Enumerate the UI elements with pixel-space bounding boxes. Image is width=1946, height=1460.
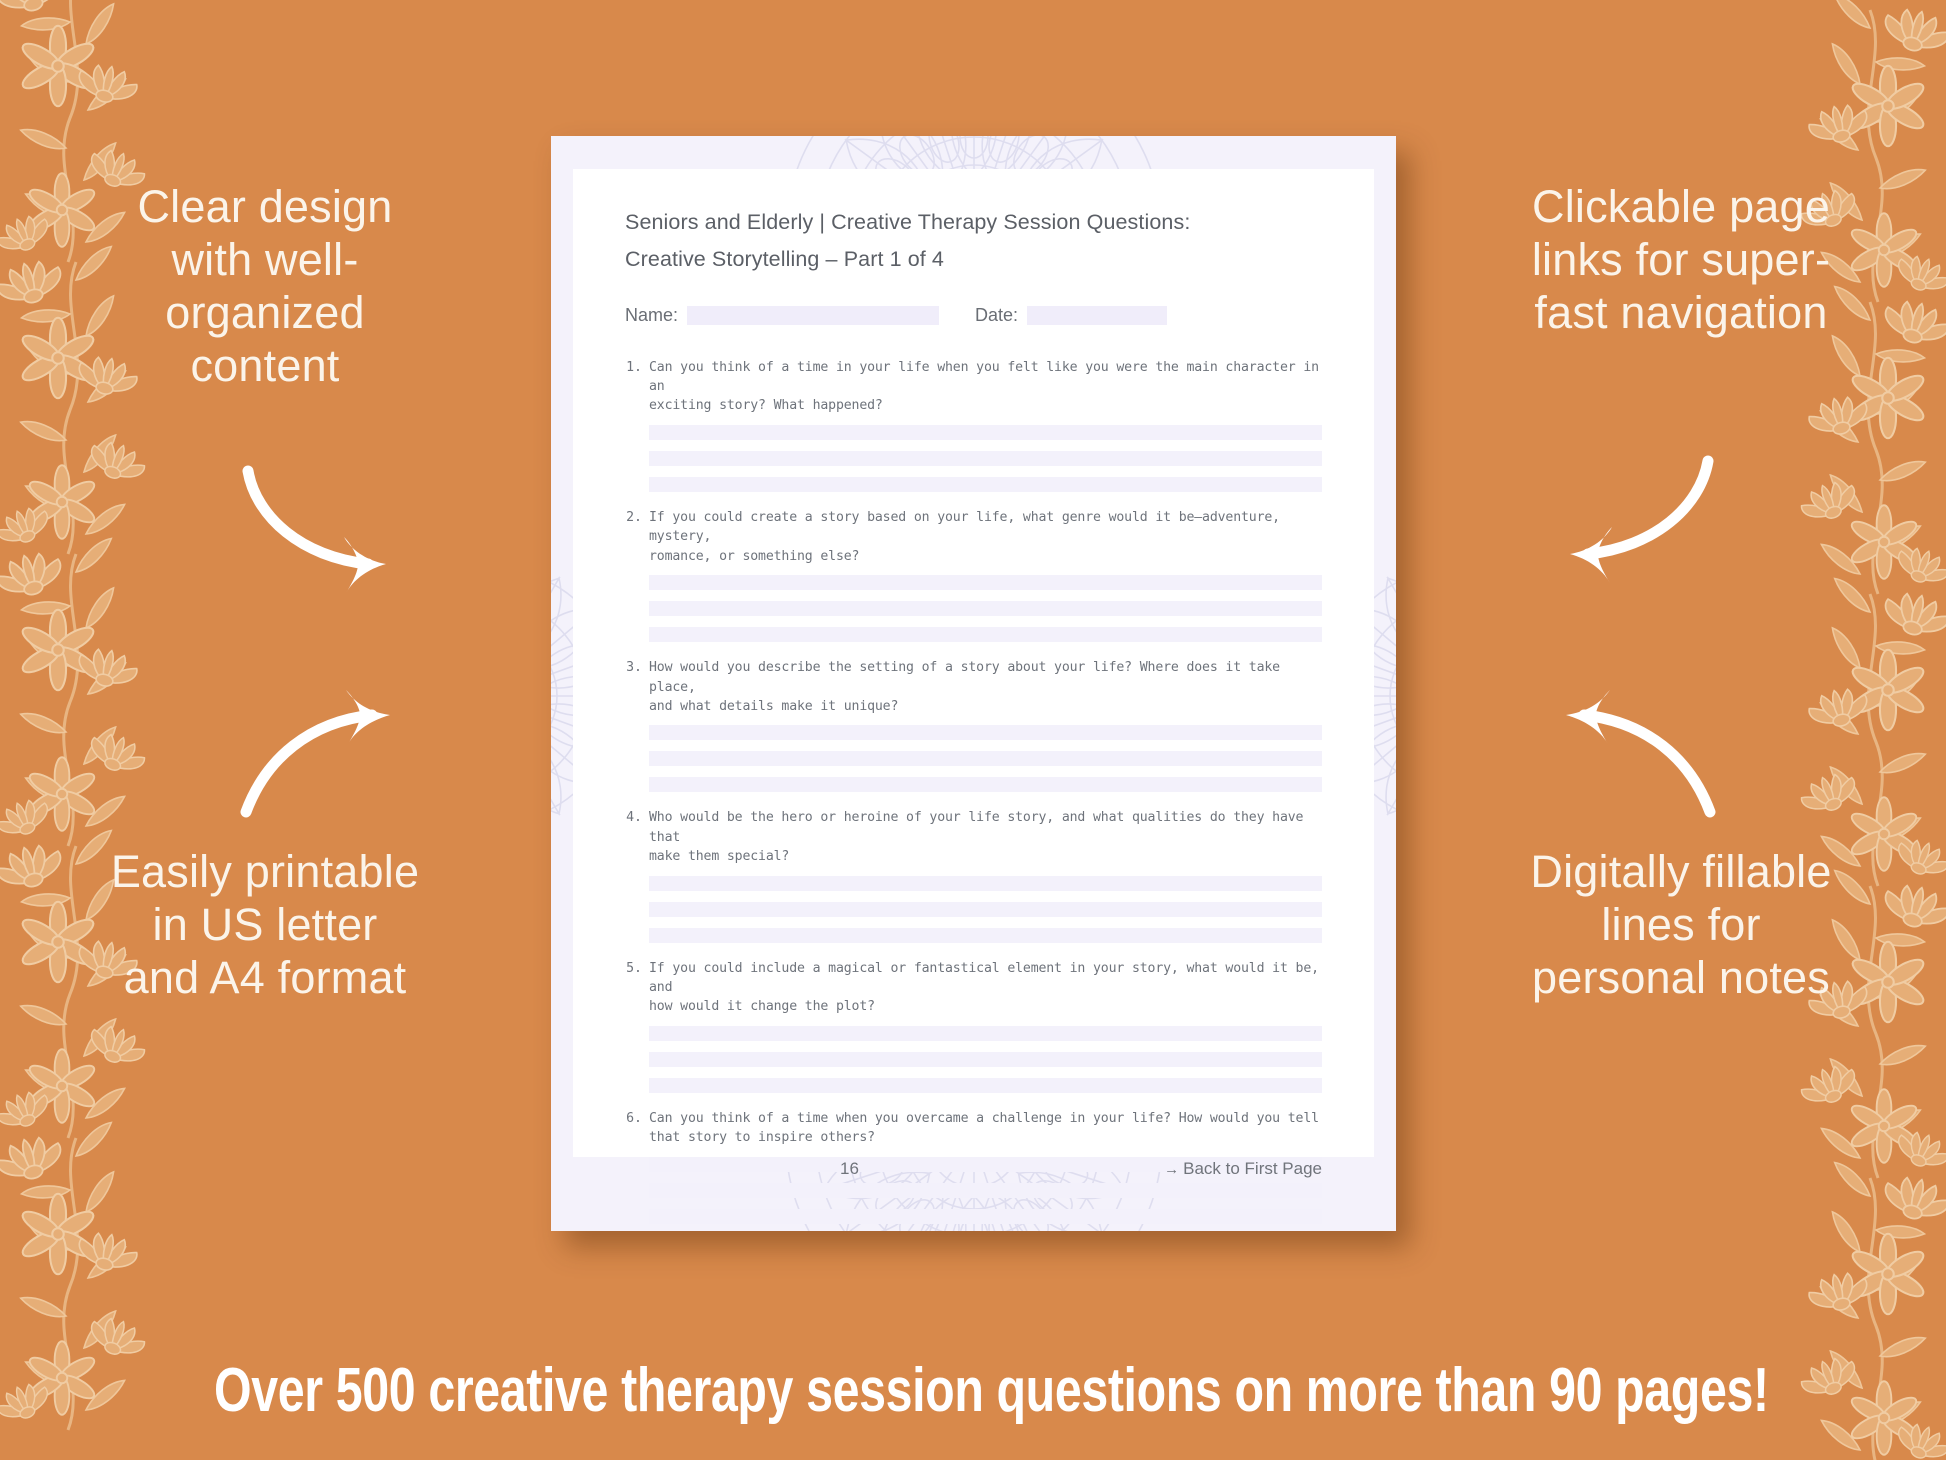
answer-lines <box>649 575 1322 642</box>
question-text: If you could include a magical or fantas… <box>649 959 1322 1017</box>
document-footer: 16 →Back to First Page <box>625 1159 1322 1179</box>
question-number: 2. <box>625 508 649 653</box>
answer-line[interactable] <box>649 1052 1322 1067</box>
bottom-banner-text: Over 500 creative therapy session questi… <box>214 1355 1732 1426</box>
date-input[interactable] <box>1027 306 1167 325</box>
name-input[interactable] <box>687 306 939 325</box>
answer-lines <box>649 725 1322 792</box>
answer-line[interactable] <box>649 477 1322 492</box>
question-number: 4. <box>625 808 649 953</box>
answer-line[interactable] <box>649 425 1322 440</box>
promo-text-bottom-right: Digitally fillable lines for personal no… <box>1516 845 1846 1004</box>
question-body: How would you describe the setting of a … <box>649 658 1322 803</box>
question-number: 3. <box>625 658 649 803</box>
answer-lines <box>649 425 1322 492</box>
question-item: 4.Who would be the hero or heroine of yo… <box>625 808 1322 953</box>
answer-lines <box>649 876 1322 943</box>
question-number: 1. <box>625 358 649 503</box>
curved-arrow-right-icon <box>240 465 410 595</box>
answer-lines <box>649 1026 1322 1093</box>
answer-line[interactable] <box>649 777 1322 792</box>
answer-line[interactable] <box>649 575 1322 590</box>
answer-line[interactable] <box>649 1026 1322 1041</box>
name-label: Name: <box>625 305 678 326</box>
question-item: 5.If you could include a magical or fant… <box>625 959 1322 1104</box>
answer-line[interactable] <box>649 751 1322 766</box>
curved-arrow-right-up-icon <box>240 690 410 820</box>
question-text: Can you think of a time when you overcam… <box>649 1109 1322 1148</box>
answer-line[interactable] <box>649 1078 1322 1093</box>
curved-arrow-left-icon <box>1546 455 1716 585</box>
question-item: 1.Can you think of a time in your life w… <box>625 358 1322 503</box>
document-page: Seniors and Elderly | Creative Therapy S… <box>551 136 1396 1231</box>
answer-line[interactable] <box>649 627 1322 642</box>
question-number: 5. <box>625 959 649 1104</box>
answer-line[interactable] <box>649 876 1322 891</box>
question-item: 3.How would you describe the setting of … <box>625 658 1322 803</box>
page-title-line2: Creative Storytelling – Part 1 of 4 <box>625 242 1322 277</box>
worksheet-document[interactable]: Seniors and Elderly | Creative Therapy S… <box>551 136 1396 1231</box>
answer-line[interactable] <box>649 928 1322 943</box>
curved-arrow-left-up-icon <box>1546 690 1716 820</box>
answer-line[interactable] <box>649 451 1322 466</box>
question-text: If you could create a story based on you… <box>649 508 1322 566</box>
back-to-first-page-link[interactable]: →Back to First Page <box>1164 1159 1322 1179</box>
question-body: Who would be the hero or heroine of your… <box>649 808 1322 953</box>
back-link-label: Back to First Page <box>1183 1159 1322 1178</box>
promo-text-top-right: Clickable page links for super-fast navi… <box>1516 180 1846 339</box>
page-number: 16 <box>840 1159 859 1179</box>
question-list: 1.Can you think of a time in your life w… <box>625 358 1322 1231</box>
page-title-line1: Seniors and Elderly | Creative Therapy S… <box>625 205 1322 240</box>
promo-text-bottom-left: Easily printable in US letter and A4 for… <box>110 845 420 1004</box>
question-body: If you could create a story based on you… <box>649 508 1322 653</box>
question-text: Who would be the hero or heroine of your… <box>649 808 1322 866</box>
question-text: Can you think of a time in your life whe… <box>649 358 1322 416</box>
document-content: Seniors and Elderly | Creative Therapy S… <box>573 169 1374 1157</box>
answer-line[interactable] <box>649 601 1322 616</box>
answer-line[interactable] <box>649 902 1322 917</box>
date-label: Date: <box>975 305 1018 326</box>
answer-line[interactable] <box>649 1183 1322 1198</box>
question-item: 2.If you could create a story based on y… <box>625 508 1322 653</box>
answer-line[interactable] <box>649 1209 1322 1224</box>
answer-line[interactable] <box>649 725 1322 740</box>
page-title: Seniors and Elderly | Creative Therapy S… <box>625 205 1322 277</box>
arrow-right-icon: → <box>1164 1161 1179 1178</box>
name-date-row: Name: Date: <box>625 305 1322 326</box>
question-body: Can you think of a time in your life whe… <box>649 358 1322 503</box>
question-body: If you could include a magical or fantas… <box>649 959 1322 1104</box>
question-text: How would you describe the setting of a … <box>649 658 1322 716</box>
promo-text-top-left: Clear design with well-organized content <box>110 180 420 392</box>
